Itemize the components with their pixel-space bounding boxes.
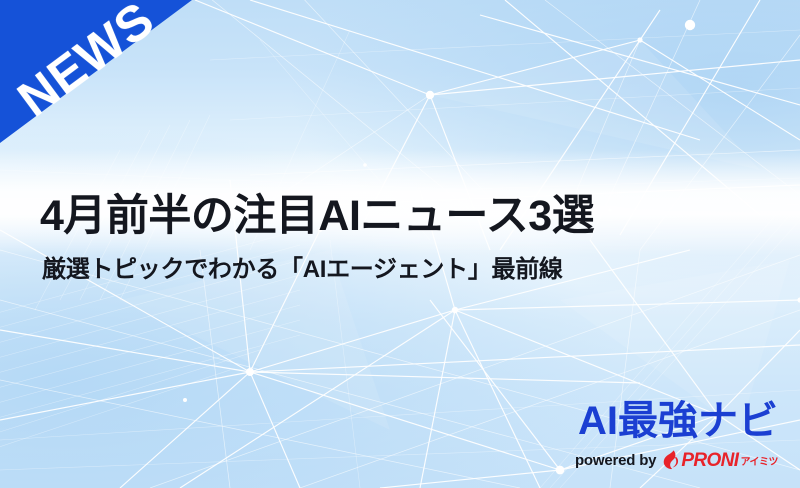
page-subtitle: 厳選トピックでわかる「AIエージェント」最前線: [42, 256, 760, 285]
proni-flame-icon: [662, 450, 679, 470]
news-banner-image: NEWS 4月前半の注目AIニュース3選 厳選トピックでわかる「AIエージェント…: [0, 0, 800, 488]
powered-by-row: powered by PRONI アイミツ: [575, 450, 778, 470]
brand-logo-lockup: AI最強ナビ powered by PRONI アイミツ: [575, 401, 778, 470]
powered-by-label: powered by: [575, 452, 656, 469]
page-title: 4月前半の注目AIニュース3選: [40, 192, 760, 240]
headline-block: 4月前半の注目AIニュース3選 厳選トピックでわかる「AIエージェント」最前線: [40, 192, 760, 285]
proni-logo: PRONI アイミツ: [662, 450, 778, 470]
news-ribbon: NEWS: [0, 0, 200, 150]
proni-wordmark: PRONI: [681, 451, 738, 470]
proni-kana-label: アイミツ: [741, 458, 779, 468]
brand-name: AI最強ナビ: [575, 401, 778, 441]
